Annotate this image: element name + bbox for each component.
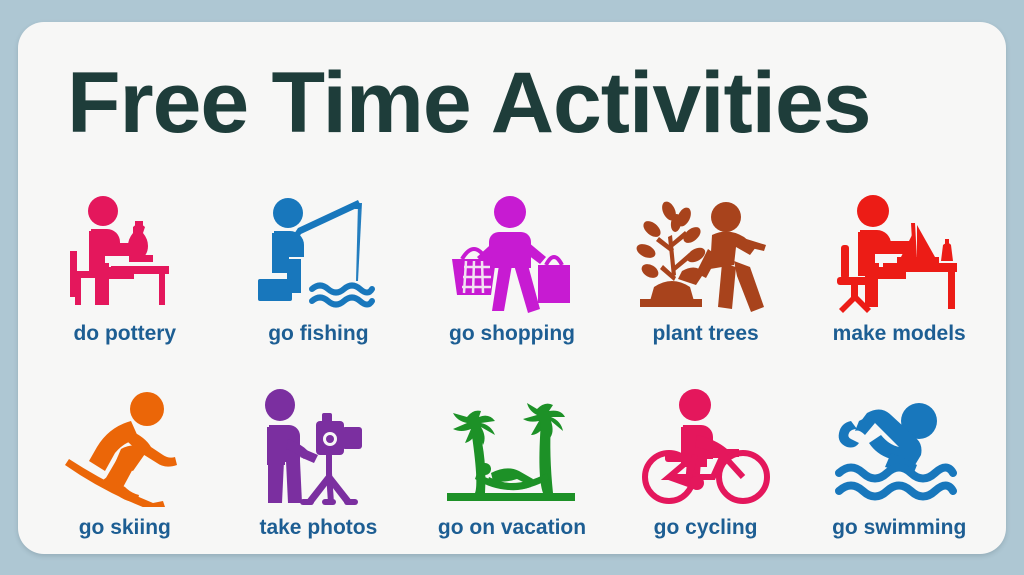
planting-tree-icon — [636, 193, 776, 313]
activity-label: plant trees — [652, 323, 758, 344]
activity-label: go skiing — [79, 517, 171, 538]
pottery-icon — [59, 193, 191, 313]
activity-item-do-pottery[interactable]: do pottery — [28, 154, 222, 348]
activity-item-take-photos[interactable]: take photos — [222, 348, 416, 542]
activity-item-go-on-vacation[interactable]: go on vacation — [415, 348, 609, 542]
poster-card: Free Time Activities — [18, 22, 1006, 554]
activity-item-go-shopping[interactable]: go shopping — [415, 154, 609, 348]
activity-label: go fishing — [268, 323, 368, 344]
activity-label: take photos — [259, 517, 377, 538]
activity-item-make-models[interactable]: make models — [802, 154, 996, 348]
activity-label: do pottery — [73, 323, 176, 344]
photography-icon — [252, 387, 384, 507]
swimming-icon — [829, 387, 969, 507]
shopping-icon — [446, 193, 578, 313]
activity-label: go swimming — [832, 517, 966, 538]
skiing-icon — [59, 387, 191, 507]
model-building-icon — [829, 193, 969, 313]
activity-item-go-skiing[interactable]: go skiing — [28, 348, 222, 542]
cycling-icon — [637, 387, 775, 507]
activity-label: make models — [833, 323, 966, 344]
activity-item-go-swimming[interactable]: go swimming — [802, 348, 996, 542]
activity-grid: do pottery — [18, 146, 1006, 554]
activity-item-plant-trees[interactable]: plant trees — [609, 154, 803, 348]
fishing-icon — [252, 193, 384, 313]
page-title: Free Time Activities — [18, 22, 1024, 146]
vacation-hammock-icon — [441, 387, 583, 507]
activity-label: go shopping — [449, 323, 575, 344]
activity-label: go cycling — [654, 517, 758, 538]
activity-label: go on vacation — [438, 517, 586, 538]
activity-item-go-cycling[interactable]: go cycling — [609, 348, 803, 542]
activity-item-go-fishing[interactable]: go fishing — [222, 154, 416, 348]
